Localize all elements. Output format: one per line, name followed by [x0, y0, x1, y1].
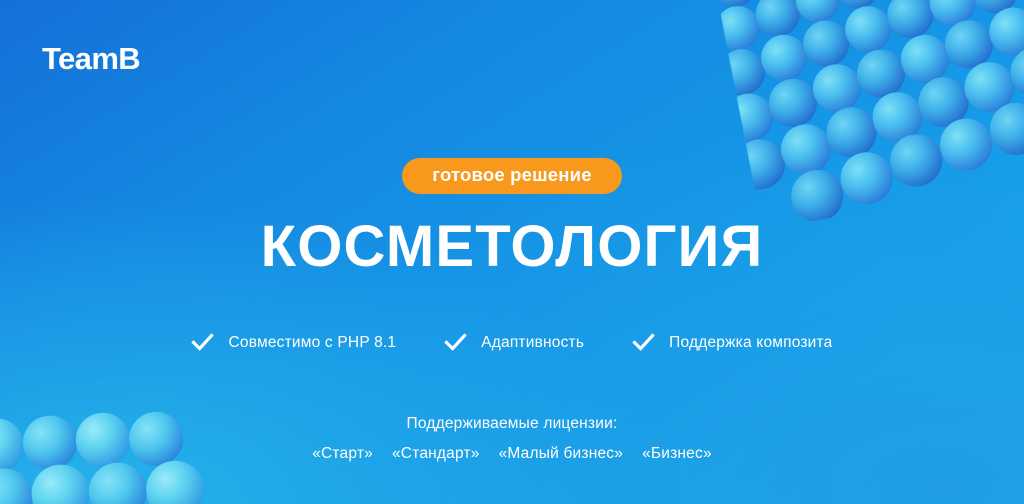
feature-label: Адаптивность	[481, 334, 584, 352]
license-block: Поддерживаемые лицензии: «Старт» «Станда…	[0, 415, 1024, 463]
license-title: Поддерживаемые лицензии:	[0, 415, 1024, 433]
check-icon	[632, 331, 655, 354]
license-list: «Старт» «Стандарт» «Малый бизнес» «Бизне…	[0, 445, 1024, 463]
hero-block: готовое решение КОСМЕТОЛОГИЯ	[0, 158, 1024, 276]
feature-item: Поддержка композита	[632, 331, 832, 354]
license-item: «Малый бизнес»	[499, 445, 623, 463]
feature-label: Совместимо с PHP 8.1	[228, 334, 396, 352]
page-title: КОСМЕТОЛОГИЯ	[0, 218, 1024, 276]
status-badge: готовое решение	[402, 158, 621, 194]
sphere-cluster-bottom-left-icon	[0, 270, 310, 504]
license-item: «Бизнес»	[642, 445, 712, 463]
check-icon	[444, 331, 467, 354]
feature-item: Адаптивность	[444, 331, 584, 354]
license-item: «Стандарт»	[392, 445, 480, 463]
feature-item: Совместимо с PHP 8.1	[191, 331, 396, 354]
feature-list: Совместимо с PHP 8.1 Адаптивность Поддер…	[0, 331, 1024, 354]
feature-label: Поддержка композита	[669, 334, 832, 352]
promo-banner: TeamB готовое решение КОСМЕТОЛОГИЯ Совме…	[0, 0, 1024, 504]
license-item: «Старт»	[312, 445, 373, 463]
check-icon	[191, 331, 214, 354]
brand-logo[interactable]: TeamB	[42, 43, 140, 74]
